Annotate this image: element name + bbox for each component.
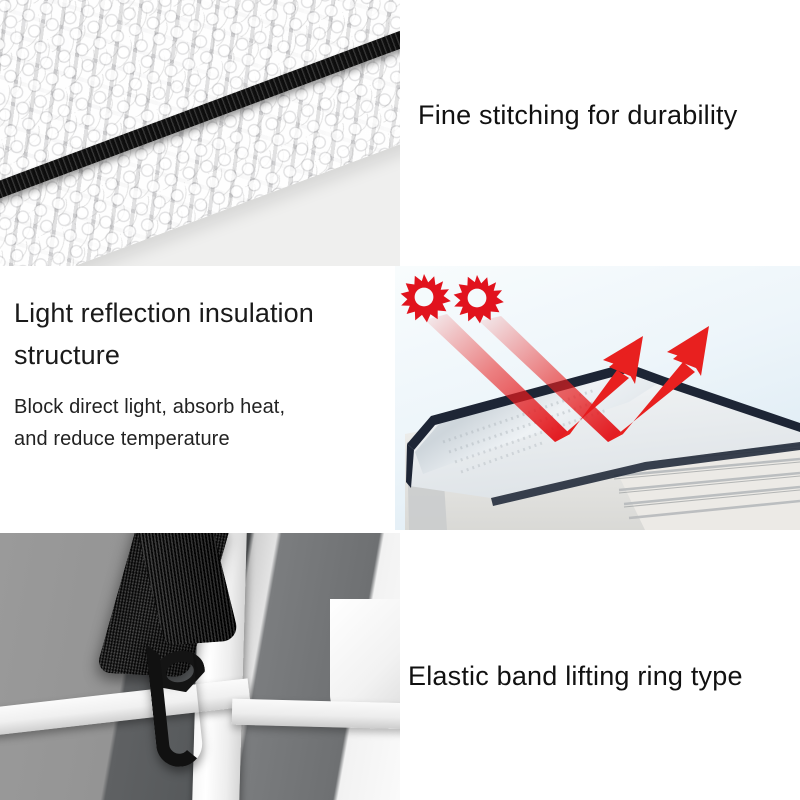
elastic-caption: Elastic band lifting ring type xyxy=(408,661,743,692)
foil-sheet xyxy=(0,0,400,266)
window-frame-horizontal-right xyxy=(232,699,400,730)
elastic-hook-photo-panel xyxy=(0,533,400,800)
infographic-page: Fine stitching for durability Light refl… xyxy=(0,0,800,800)
stitching-text-panel: Fine stitching for durability xyxy=(400,0,800,266)
reflection-heading: Light reflection insulation structure xyxy=(14,293,389,377)
bubble-texture xyxy=(0,0,400,266)
reflection-diagram-svg xyxy=(395,266,800,530)
reflection-subtext: Block direct light, absorb heat, and red… xyxy=(14,391,389,456)
sun-reflection-photo-panel xyxy=(395,266,800,530)
gutter-horizontal-bottom xyxy=(0,530,395,533)
elastic-text-panel: Elastic band lifting ring type xyxy=(400,533,800,800)
stitching-caption: Fine stitching for durability xyxy=(418,100,737,131)
reflection-text-panel: Light reflection insulation structure Bl… xyxy=(0,266,395,532)
reflective-foil-photo-panel xyxy=(0,0,400,266)
